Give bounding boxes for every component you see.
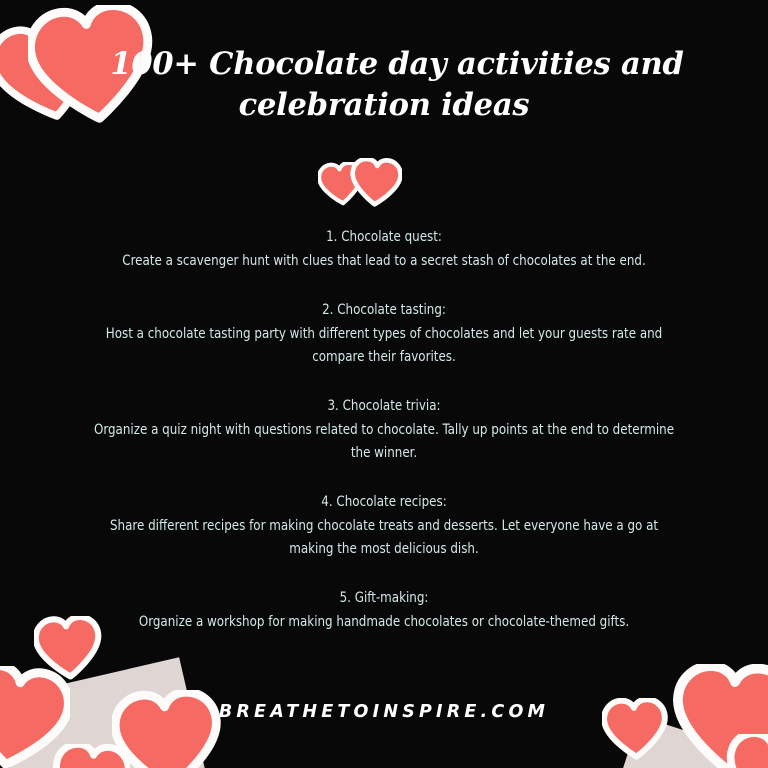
list-item-description: Create a scavenger hunt with clues that … <box>86 250 682 273</box>
list-item-title: 5. Gift-making: <box>86 587 682 610</box>
page-title: 100+ Chocolate day activities and celebr… <box>0 44 768 126</box>
list-item-title: 4. Chocolate recipes: <box>86 491 682 514</box>
list-item: 1. Chocolate quest: Create a scavenger h… <box>60 226 708 273</box>
divider-heart-right <box>350 158 402 207</box>
title-line-2: celebration ideas <box>60 85 708 126</box>
list-item-title: 1. Chocolate quest: <box>86 226 682 249</box>
list-item: 5. Gift-making: Organize a workshop for … <box>60 587 708 634</box>
activity-list: 1. Chocolate quest: Create a scavenger h… <box>60 226 708 634</box>
list-item: 2. Chocolate tasting: Host a chocolate t… <box>60 299 708 369</box>
bottom-left-heart-lower <box>52 744 130 768</box>
poster-canvas: 100+ Chocolate day activities and celebr… <box>0 0 768 768</box>
divider-hearts-ornament <box>0 158 768 206</box>
bottom-right-heart-corner <box>724 734 768 768</box>
title-line-1: 100+ Chocolate day activities and <box>60 44 708 85</box>
list-item-description: Share different recipes for making choco… <box>86 515 682 561</box>
list-item-title: 2. Chocolate tasting: <box>86 299 682 322</box>
list-item: 3. Chocolate trivia: Organize a quiz nig… <box>60 395 708 465</box>
brand-watermark: BREATHETOINSPIRE.COM <box>0 702 768 722</box>
list-item-title: 3. Chocolate trivia: <box>86 395 682 418</box>
list-item-description: Host a chocolate tasting party with diff… <box>86 323 682 369</box>
list-item-description: Organize a quiz night with questions rel… <box>86 419 682 465</box>
list-item: 4. Chocolate recipes: Share different re… <box>60 491 708 561</box>
list-item-description: Organize a workshop for making handmade … <box>86 611 682 634</box>
